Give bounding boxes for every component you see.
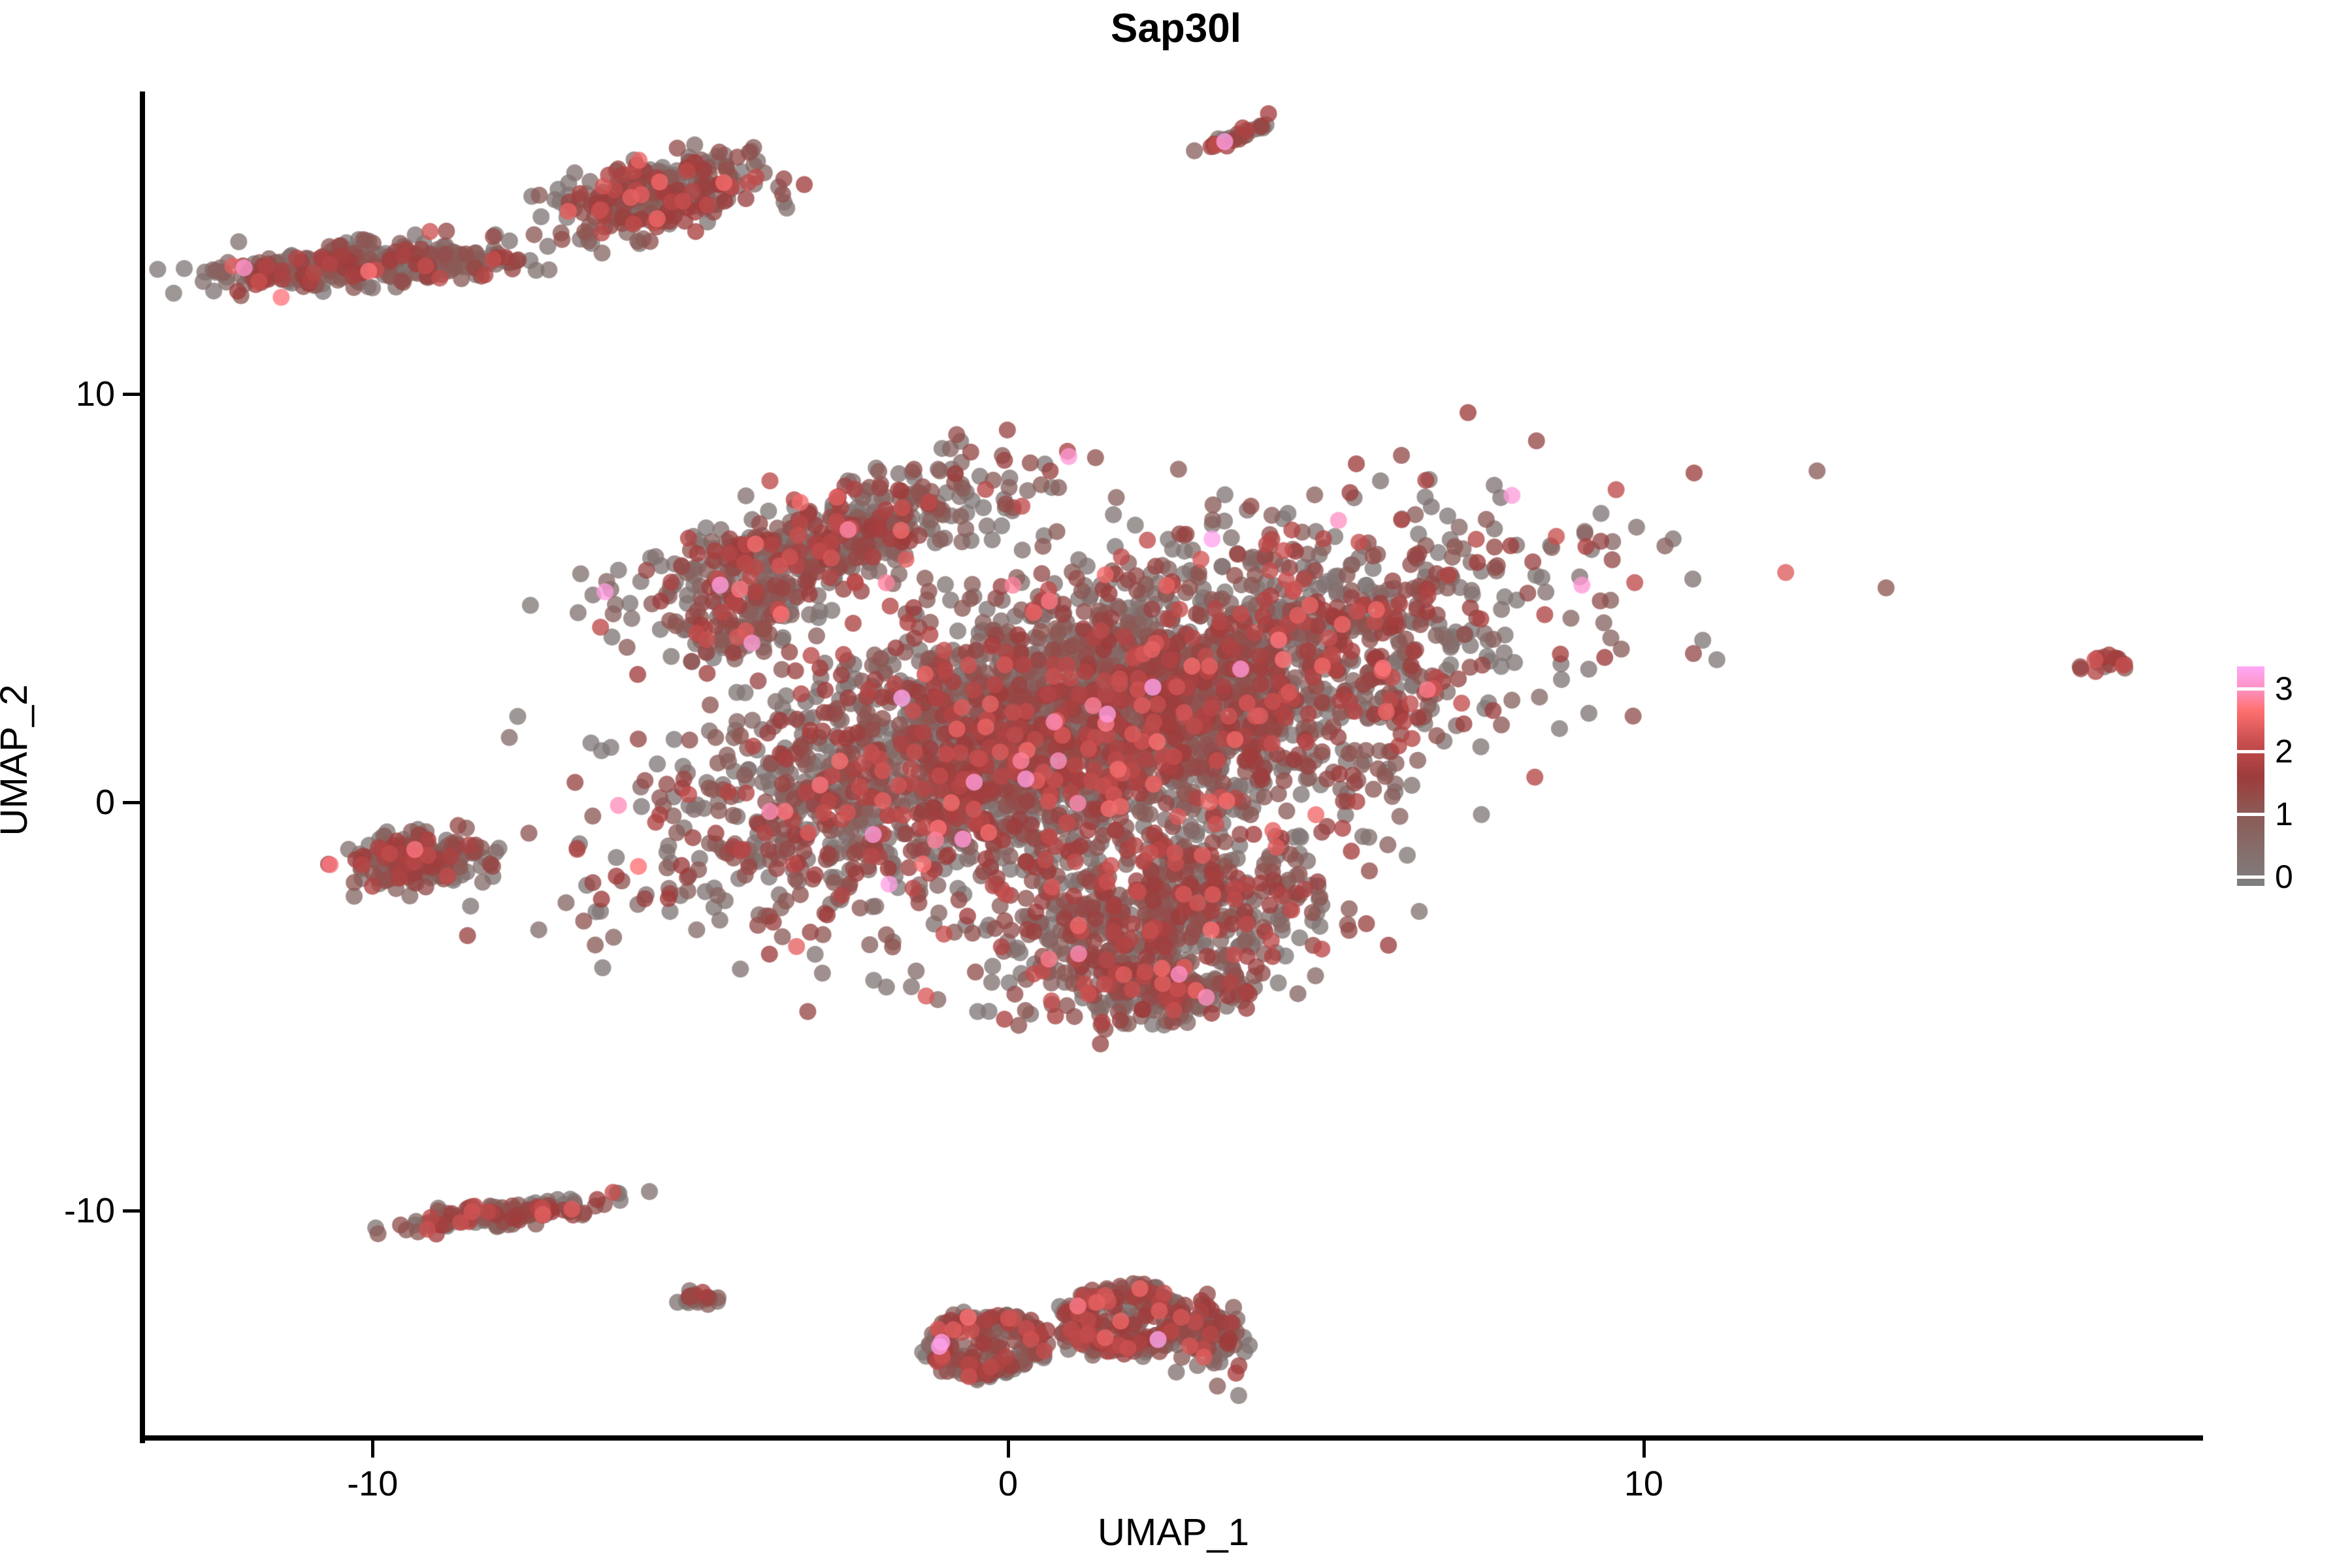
x-axis-label: UMAP_1 bbox=[144, 1511, 2203, 1554]
color-legend: 0123 bbox=[2237, 666, 2342, 889]
legend-tick-label: 2 bbox=[2275, 732, 2293, 770]
legend-colorbar bbox=[2237, 666, 2264, 886]
legend-tick-label: 1 bbox=[2275, 795, 2293, 833]
legend-tick-mark bbox=[2237, 687, 2264, 691]
x-axis-line bbox=[140, 1435, 2203, 1441]
legend-tick-mark bbox=[2237, 813, 2264, 816]
scatter-points-layer bbox=[144, 91, 2203, 1439]
x-tick-mark bbox=[1007, 1441, 1010, 1458]
page-title: Sap30l bbox=[0, 5, 2352, 52]
x-tick-label: 10 bbox=[1624, 1463, 1663, 1504]
x-tick-label: -10 bbox=[347, 1463, 398, 1504]
legend-tick-label: 0 bbox=[2275, 858, 2293, 896]
y-tick-mark bbox=[123, 801, 140, 804]
legend-tick-mark bbox=[2237, 750, 2264, 753]
x-tick-mark bbox=[371, 1441, 374, 1458]
legend-tick-label: 3 bbox=[2275, 670, 2293, 708]
plot-panel bbox=[144, 91, 2203, 1439]
legend-tick-mark bbox=[2237, 875, 2264, 879]
x-tick-label: 0 bbox=[998, 1463, 1018, 1504]
y-axis-line bbox=[140, 91, 145, 1443]
x-tick-mark bbox=[1642, 1441, 1646, 1458]
y-axis-label: UMAP_2 bbox=[0, 684, 35, 836]
y-axis-label-wrapper: UMAP_2 bbox=[0, 86, 36, 1434]
y-tick-mark bbox=[123, 393, 140, 396]
umap-feature-plot: Sap30l -10010 -10010 UMAP_1 UMAP_2 0123 bbox=[0, 0, 2352, 1568]
y-tick-mark bbox=[123, 1209, 140, 1213]
